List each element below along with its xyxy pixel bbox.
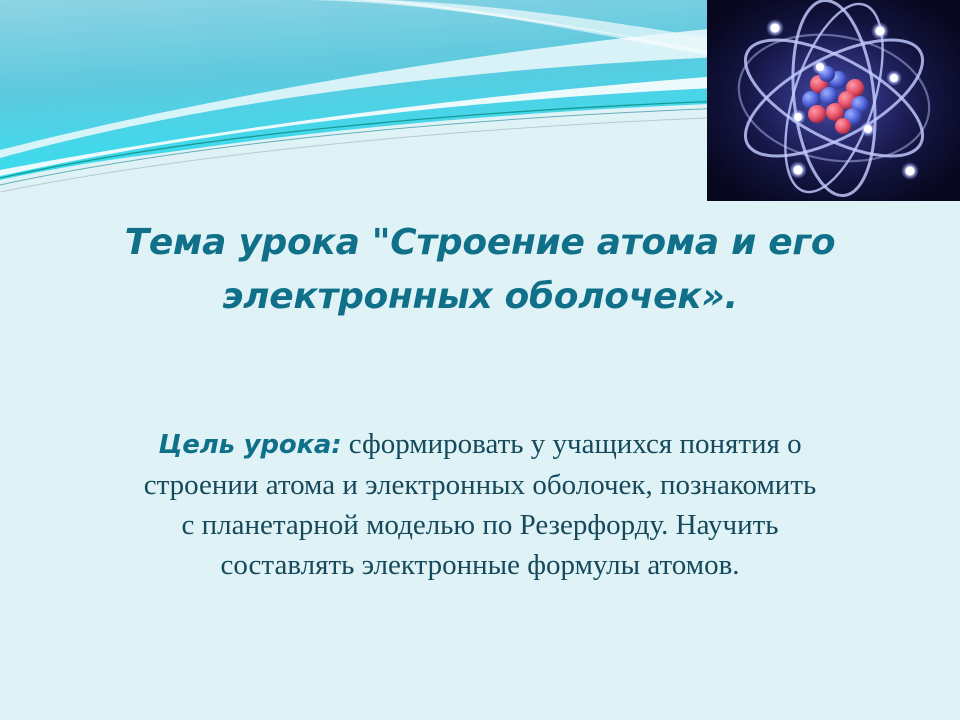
purpose-label: Цель урока: xyxy=(158,430,341,460)
atom-model-image xyxy=(707,0,960,201)
purpose-line-4: составлять электронные формулы атомов. xyxy=(12,545,948,585)
slide-canvas: Тема урока "Строение атома и его электро… xyxy=(0,0,960,720)
purpose-line-1-text: сформировать у учащихся понятия о xyxy=(341,428,801,460)
purpose-line-2: строении атома и электронных оболочек, п… xyxy=(12,465,948,505)
title-line-2: электронных оболочек». xyxy=(40,270,920,324)
lesson-purpose: Цель урока: сформировать у учащихся поня… xyxy=(12,424,948,585)
purpose-line-3: с планетарной моделью по Резерфорду. Нау… xyxy=(12,505,948,545)
title-line-1: Тема урока "Строение атома и его xyxy=(40,216,920,270)
purpose-line-1: Цель урока: сформировать у учащихся поня… xyxy=(12,424,948,465)
lesson-title: Тема урока "Строение атома и его электро… xyxy=(40,216,920,324)
